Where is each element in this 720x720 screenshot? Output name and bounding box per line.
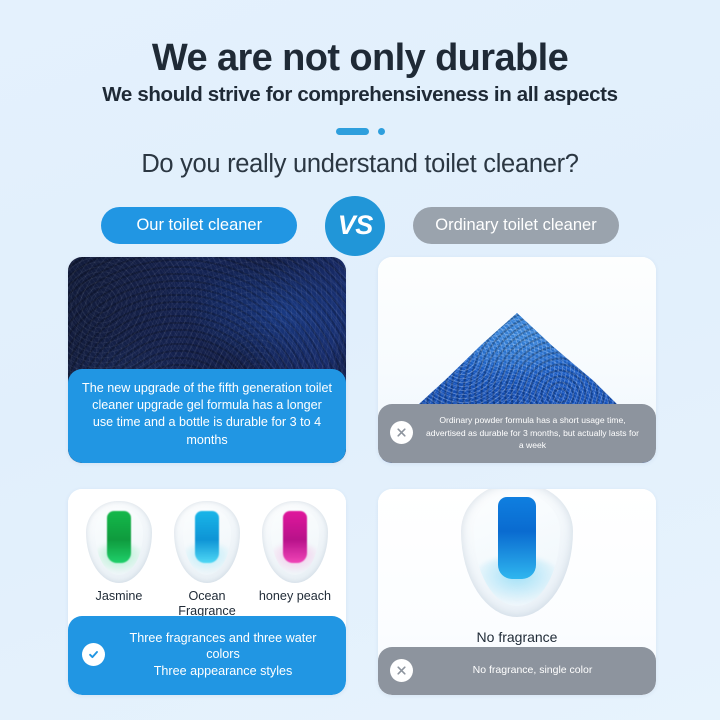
vs-badge: VS <box>325 196 385 256</box>
our-durability-caption: The new upgrade of the fifth generation … <box>68 369 346 464</box>
ordinary-durability-caption-bar: Ordinary powder formula has a short usag… <box>378 404 656 463</box>
check-icon <box>82 643 105 666</box>
fragrance-swatch-row: Jasmine Ocean Fragrance <box>68 489 346 633</box>
page-header: We are not only durable We should strive… <box>0 0 720 107</box>
our-product-pill[interactable]: Our toilet cleaner <box>101 207 297 244</box>
our-fragrance-caption-line1: Three fragrances and three water colors <box>130 631 317 661</box>
divider-dash-icon <box>336 128 369 135</box>
our-fragrance-caption: Three fragrances and three water colors … <box>116 630 330 679</box>
fragrance-item: Jasmine <box>77 501 161 604</box>
decorative-divider <box>0 128 720 136</box>
cross-icon <box>390 659 413 682</box>
fragrance-item: honey peach <box>253 501 337 604</box>
page-title: We are not only durable <box>0 38 720 78</box>
our-fragrance-caption-bar: Three fragrances and three water colors … <box>68 616 346 695</box>
card-ordinary-fragrance[interactable]: No fragrance No fragrance, single color <box>378 489 656 695</box>
comparison-grid: The new upgrade of the fifth generation … <box>68 257 656 695</box>
ordinary-fragrance-caption: No fragrance, single color <box>423 663 642 678</box>
our-fragrance-caption-line2: Three appearance styles <box>154 664 293 678</box>
fragrance-item: Ocean Fragrance <box>165 501 249 618</box>
card-ordinary-durability[interactable]: Ordinary powder formula has a short usag… <box>378 257 656 463</box>
fragrance-label-line1: Ocean <box>188 589 225 603</box>
fragrance-label: Ocean Fragrance <box>165 589 249 618</box>
fragrance-label: Jasmine <box>77 589 161 604</box>
ordinary-product-pill[interactable]: Ordinary toilet cleaner <box>413 207 618 244</box>
comparison-header-row: Our toilet cleaner VS Ordinary toilet cl… <box>0 196 720 256</box>
ordinary-fragrance-caption-bar: No fragrance, single color <box>378 647 656 695</box>
cross-icon <box>390 421 413 444</box>
card-our-fragrance[interactable]: Jasmine Ocean Fragrance <box>68 489 346 695</box>
toilet-bowl-icon <box>461 489 573 617</box>
pink-gel-bowl-icon <box>262 501 328 583</box>
ordinary-durability-caption: Ordinary powder formula has a short usag… <box>423 414 642 451</box>
no-fragrance-image-label: No fragrance <box>378 629 656 645</box>
blue-gel-bowl-icon <box>174 501 240 583</box>
green-gel-bowl-icon <box>86 501 152 583</box>
page-subtitle: We should strive for comprehensiveness i… <box>0 84 720 107</box>
fragrance-label: honey peach <box>253 589 337 604</box>
section-question: Do you really understand toilet cleaner? <box>0 150 720 179</box>
divider-dot-icon <box>378 128 385 135</box>
card-our-durability[interactable]: The new upgrade of the fifth generation … <box>68 257 346 463</box>
